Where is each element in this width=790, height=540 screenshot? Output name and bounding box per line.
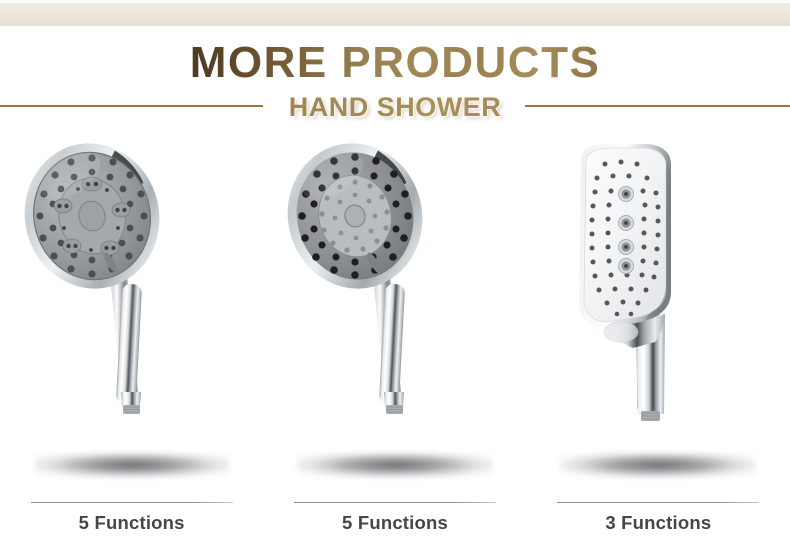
product-caption-1: 5 Functions (0, 502, 263, 534)
caption-rule (294, 502, 496, 503)
subtitle-row: HAND SHOWER (0, 92, 790, 122)
product-caption-2: 5 Functions (263, 502, 526, 534)
product-card-1[interactable]: 5 Functions (0, 130, 263, 540)
hand-shower-rect-illustration (527, 130, 790, 470)
product-card-2[interactable]: 5 Functions (263, 130, 526, 540)
product-image-1 (0, 130, 263, 470)
caption-rule (31, 502, 233, 503)
heading-block: MORE PRODUCTS (0, 38, 790, 88)
product-card-3[interactable]: 3 Functions (527, 130, 790, 540)
caption-rule (557, 502, 759, 503)
product-image-2 (263, 130, 526, 470)
page-title: MORE PRODUCTS (190, 38, 601, 88)
function-count-label: 5 Functions (0, 512, 263, 534)
page-subtitle: HAND SHOWER (0, 92, 790, 122)
product-shadow (34, 452, 230, 478)
top-banner-strip (0, 3, 790, 26)
product-row: 5 Functions (0, 130, 790, 540)
function-count-label: 5 Functions (263, 512, 526, 534)
hand-shower-round-a-illustration (0, 130, 263, 470)
product-image-3 (527, 130, 790, 470)
function-count-label: 3 Functions (527, 512, 790, 534)
product-caption-3: 3 Functions (527, 502, 790, 534)
product-shadow (297, 452, 493, 478)
product-shadow (560, 452, 756, 478)
hand-shower-round-b-illustration (263, 130, 526, 470)
